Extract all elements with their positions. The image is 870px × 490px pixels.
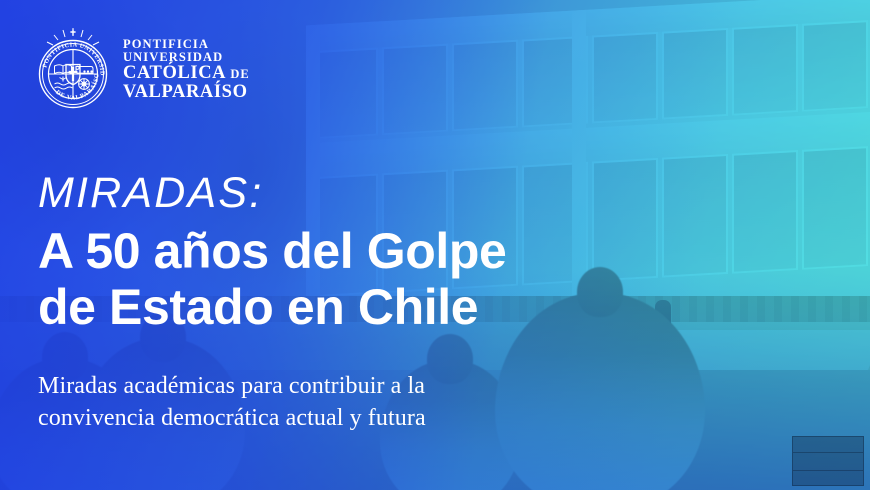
wordmark-line-catolica-de: CATÓLICA DE [123,64,250,83]
title-line-1: A 50 años del Golpe [38,223,506,279]
wordmark-line-valparaiso: VALPARAÍSO [123,83,250,102]
subtitle-block: Miradas académicas para contribuir a la … [38,370,426,434]
wordmark-catolica: CATÓLICA [123,63,225,83]
wordmark-line-pontificia: PONTIFICIA [123,38,250,51]
title-line-2: de Estado en Chile [38,279,506,335]
slide-content: PONTIFICIA UNIVERSIDAD CATÓLICA DE VALPA… [0,0,870,490]
subtitle-line-1: Miradas académicas para contribuir a la [38,370,426,402]
wordmark-de: DE [230,67,249,81]
pucv-wordmark: PONTIFICIA UNIVERSIDAD CATÓLICA DE VALPA… [123,38,250,102]
kicker-text: MIRADAS: [38,172,506,215]
subtitle-line-2: convivencia democrática actual y futura [38,402,426,434]
pucv-logo-lockup: PONTIFICIA UNIVERSIDAD CATÓLICA DE VALPA… [36,26,250,114]
page-title: A 50 años del Golpe de Estado en Chile [38,223,506,335]
slide-canvas: PONTIFICIA UNIVERSIDAD CATÓLICA DE VALPA… [0,0,870,490]
headline-block: MIRADAS: A 50 años del Golpe de Estado e… [38,172,506,335]
pucv-crest-seal-icon: PONTIFICIA UNIVERSIDAD CATÓLICA DE VALPA… [36,26,110,114]
